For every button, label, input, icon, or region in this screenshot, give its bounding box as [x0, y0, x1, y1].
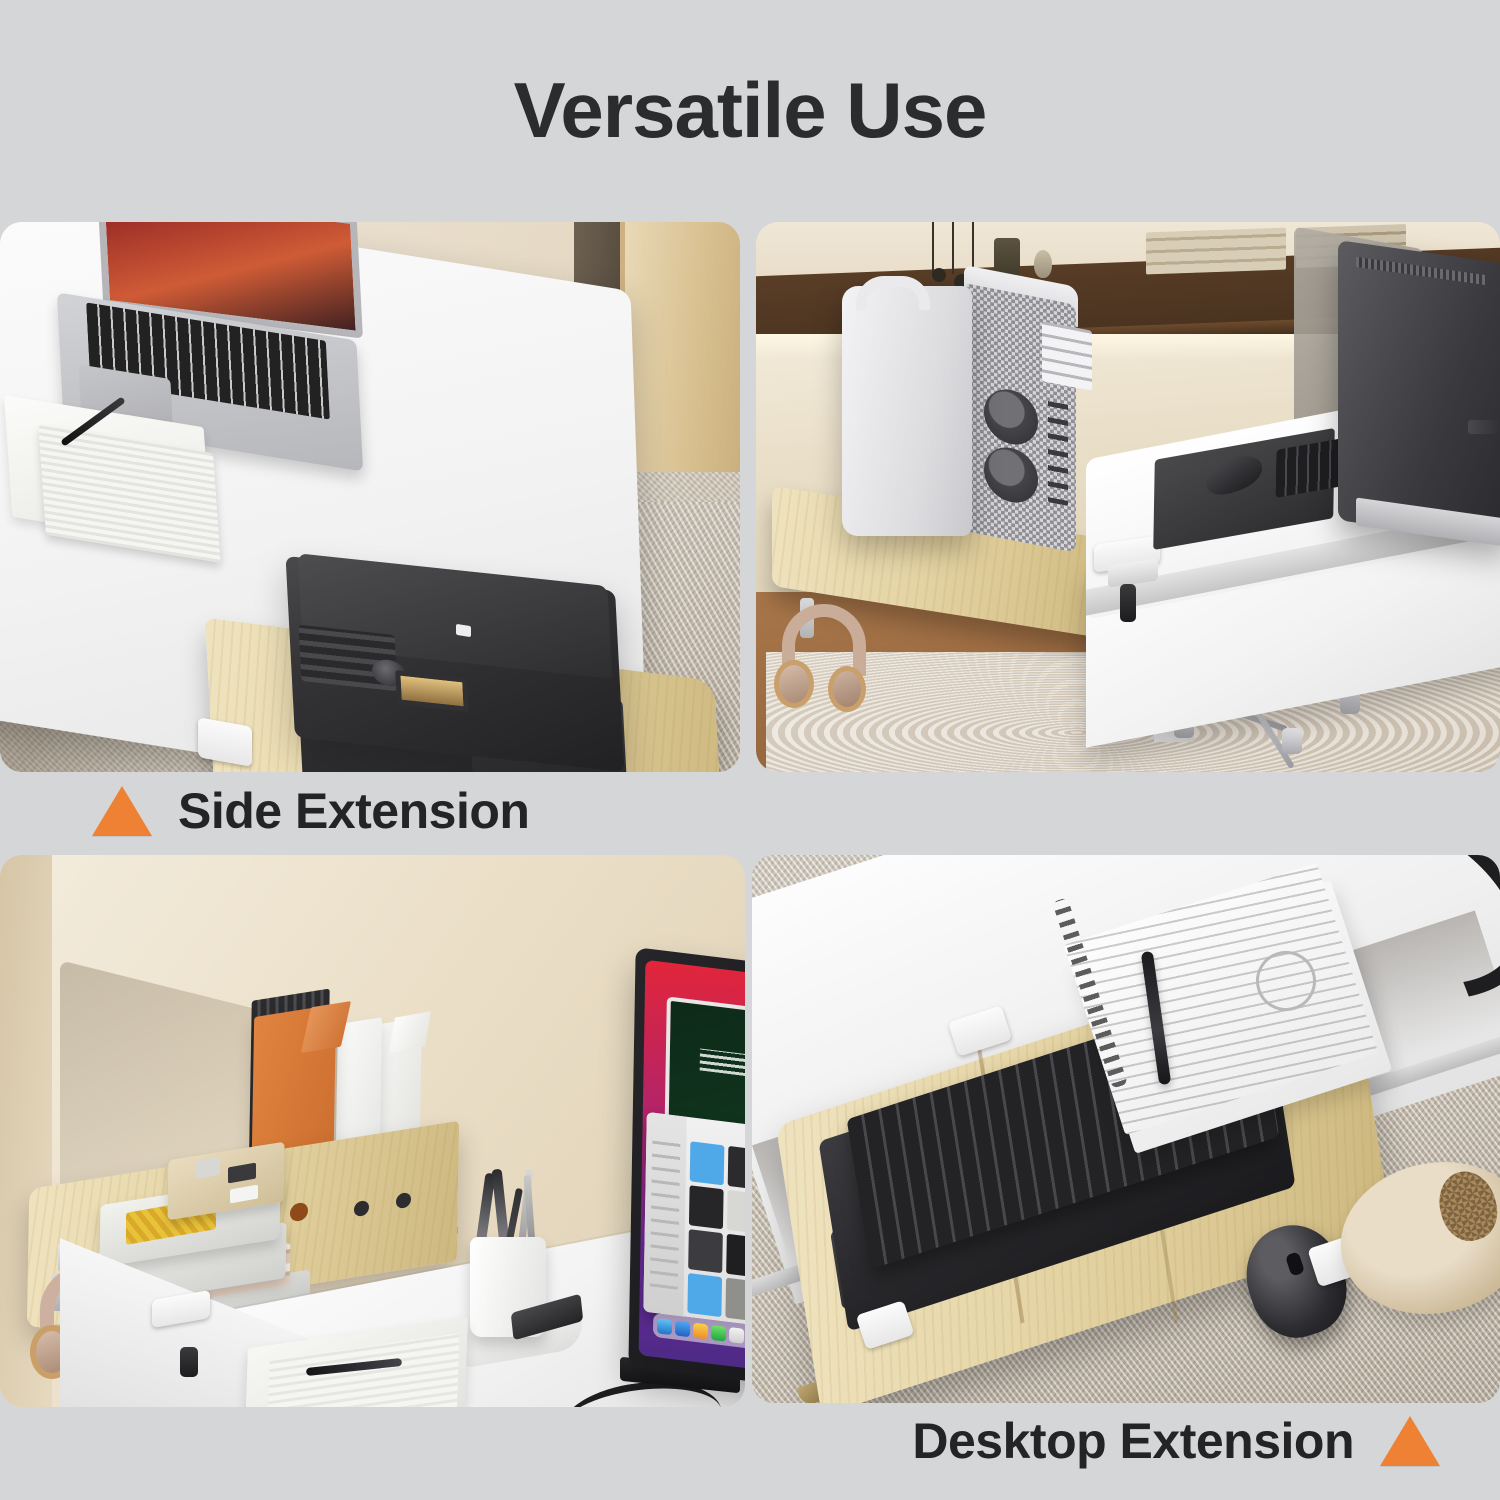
hanging-ornaments: [932, 222, 992, 274]
file-tile: [727, 1146, 745, 1190]
orange-triangle-icon: [92, 786, 152, 836]
headphones: [776, 604, 876, 714]
caption-side-extension: Side Extension: [92, 782, 529, 840]
messages-icon: [711, 1324, 726, 1341]
scene-pc-tower: [756, 222, 1500, 772]
tower-expansion-slots: [1042, 321, 1092, 391]
panel-pc-tower-on-side-tray: [756, 222, 1500, 772]
finder-sidebar-items: [650, 1137, 681, 1290]
orange-triangle-icon: [1380, 1416, 1440, 1466]
panel-printer-on-side-tray: [0, 222, 740, 772]
file-tile: [725, 1278, 745, 1322]
clamp-knob: [1120, 584, 1136, 622]
caption-desktop-extension-label: Desktop Extension: [912, 1412, 1354, 1470]
monitor-arm: [1468, 420, 1500, 434]
headphone-earcup: [774, 660, 814, 708]
scene-organizer: [0, 855, 745, 1407]
tower-handle: [856, 276, 930, 310]
photos-icon: [693, 1322, 708, 1339]
chair-caster: [1282, 728, 1302, 754]
finder-icon: [657, 1318, 672, 1335]
page-title: Versatile Use: [0, 70, 1500, 152]
mail-icon: [675, 1320, 690, 1337]
shelf-figurine: [1034, 250, 1052, 278]
clamp-knob: [180, 1347, 198, 1377]
scene-printer: [0, 222, 740, 772]
file-tile: [689, 1185, 723, 1229]
ornament-ball: [932, 268, 946, 282]
caption-side-extension-label: Side Extension: [178, 782, 529, 840]
file-tile: [726, 1234, 745, 1278]
monitor-screen: [639, 960, 745, 1378]
file-tile: [690, 1141, 724, 1185]
file-tile: [688, 1229, 722, 1273]
panel-desk-organizer-on-side-tray: [0, 855, 745, 1407]
shelf-books: [1146, 228, 1286, 275]
panel-keyboard-tray-top-view: [752, 855, 1500, 1403]
tower-ports: [1048, 396, 1068, 506]
pc-tower: [842, 286, 972, 536]
calendar-icon: [729, 1327, 744, 1344]
window-title-text: [700, 1048, 745, 1078]
printer-logo: [456, 624, 471, 637]
scene-keyboard-tray: [752, 855, 1500, 1403]
finder-file-grid: [687, 1141, 745, 1331]
caption-desktop-extension: Desktop Extension: [912, 1412, 1440, 1470]
file-tile: [726, 1190, 745, 1234]
file-tile: [687, 1273, 721, 1317]
headphone-earcup: [828, 666, 866, 712]
